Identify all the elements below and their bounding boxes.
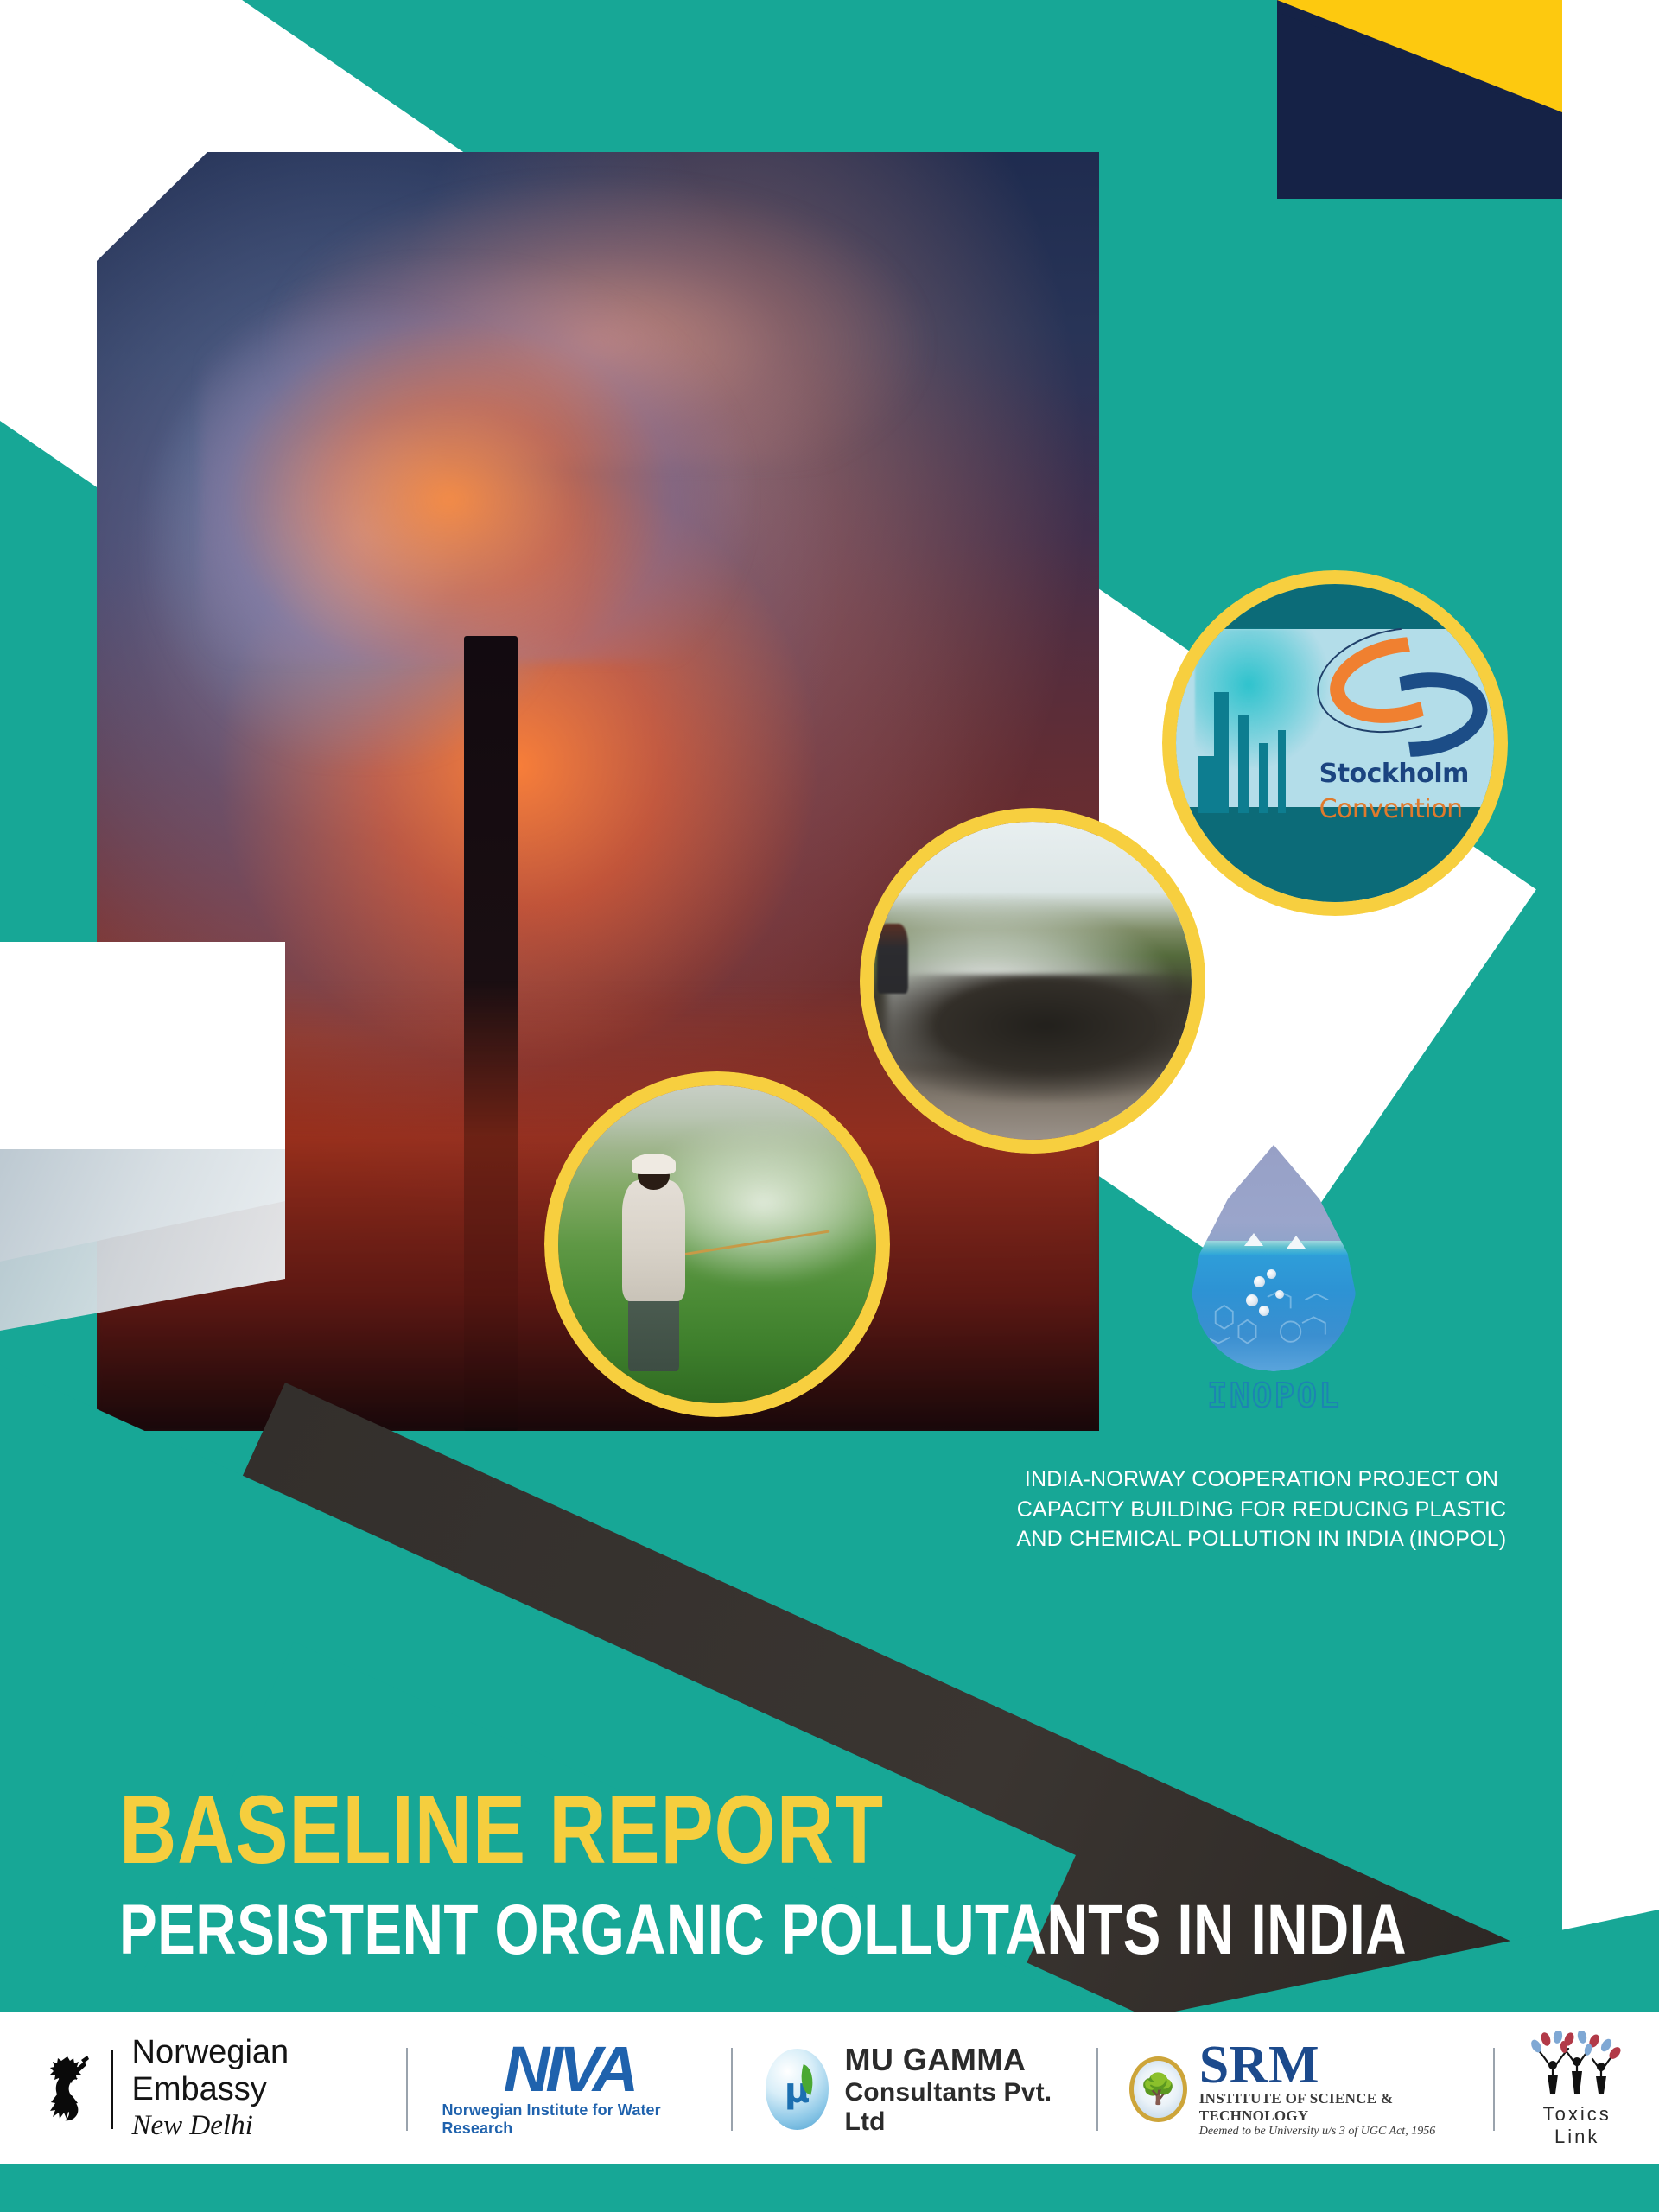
- inopol-wordmark: INOPOL: [1171, 1376, 1378, 1414]
- srm-line-1: INSTITUTE OF SCIENCE & TECHNOLOGY: [1199, 2090, 1463, 2125]
- norway-lion-crest-icon: [41, 2050, 92, 2129]
- niva-wordmark: NIVA: [504, 2041, 634, 2099]
- srm-text: SRM INSTITUTE OF SCIENCE & TECHNOLOGY De…: [1199, 2040, 1463, 2139]
- inopol-logo: INOPOL: [1171, 1145, 1378, 1430]
- norwegian-embassy-text: Norwegian Embassy New Delhi: [132, 2034, 384, 2145]
- stockholm-convention-logo-circle: Stockholm Convention: [1162, 570, 1508, 916]
- logo-srm: 🌳 SRM INSTITUTE OF SCIENCE & TECHNOLOGY …: [1098, 2041, 1493, 2138]
- footer-teal-band: [0, 2164, 1659, 2212]
- embassy-city: New Delhi: [132, 2107, 384, 2145]
- niva-subtitle: Norwegian Institute for Water Research: [442, 2101, 696, 2138]
- tree-glyph: 🌳: [1140, 2075, 1176, 2104]
- toxics-link-tree-people-icon: [1525, 2031, 1629, 2100]
- right-white-margin: [1562, 0, 1659, 2212]
- toxics-link-name: Toxics Link: [1524, 2103, 1630, 2148]
- circle-ring: [860, 808, 1205, 1154]
- footer: Norwegian Embassy New Delhi NIVA Norwegi…: [0, 2012, 1659, 2212]
- water-drop-icon: [1192, 1145, 1356, 1371]
- srm-wordmark: SRM: [1199, 2040, 1463, 2091]
- mu-gamma-subtitle: Consultants Pvt. Ltd: [844, 2078, 1064, 2137]
- logo-toxics-link: Toxics Link: [1495, 2041, 1659, 2138]
- logo-mu-gamma: μ MU GAMMA Consultants Pvt. Ltd: [733, 2041, 1097, 2138]
- circle-ring: [544, 1071, 890, 1417]
- embassy-name: Norwegian Embassy: [132, 2034, 384, 2107]
- caption-line-2: CAPACITY BUILDING FOR REDUCING PLASTIC: [959, 1495, 1564, 1525]
- srm-line-2: Deemed to be University u/s 3 of UGC Act…: [1199, 2125, 1463, 2139]
- report-subtitle: PERSISTENT ORGANIC POLLUTANTS IN INDIA: [119, 1895, 1407, 1966]
- mu-gamma-name: MU GAMMA: [844, 2042, 1064, 2078]
- circle-ring: [1162, 570, 1508, 916]
- drop-waterline: [1192, 1241, 1356, 1255]
- logo-niva: NIVA Norwegian Institute for Water Resea…: [408, 2041, 731, 2138]
- year-label: 2021: [130, 76, 221, 123]
- logo-norwegian-embassy: Norwegian Embassy New Delhi: [0, 2041, 406, 2138]
- iceberg-2-icon: [1287, 1236, 1306, 1249]
- pesticide-spraying-photo-circle: [544, 1071, 890, 1417]
- mu-gamma-globe-icon: μ: [766, 2049, 829, 2130]
- report-cover: 2021 Stockholm Convention: [0, 0, 1659, 2212]
- report-title: BASELINE REPORT: [119, 1782, 884, 1878]
- caption-line-1: INDIA-NORWAY COOPERATION PROJECT ON: [959, 1465, 1564, 1495]
- caption-line-3: AND CHEMICAL POLLUTION IN INDIA (INOPOL): [959, 1524, 1564, 1554]
- iceberg-1-icon: [1244, 1233, 1263, 1246]
- partner-logo-row: Norwegian Embassy New Delhi NIVA Norwegi…: [0, 2029, 1659, 2150]
- project-caption: INDIA-NORWAY COOPERATION PROJECT ON CAPA…: [959, 1465, 1564, 1554]
- chemistry-diagram-overlay: [1201, 1272, 1345, 1363]
- srm-seal-icon: 🌳: [1129, 2056, 1187, 2122]
- mu-gamma-text: MU GAMMA Consultants Pvt. Ltd: [844, 2042, 1064, 2137]
- smoke-plume-core: [200, 256, 753, 662]
- waste-burning-photo-circle: [860, 808, 1205, 1154]
- divider: [111, 2050, 113, 2129]
